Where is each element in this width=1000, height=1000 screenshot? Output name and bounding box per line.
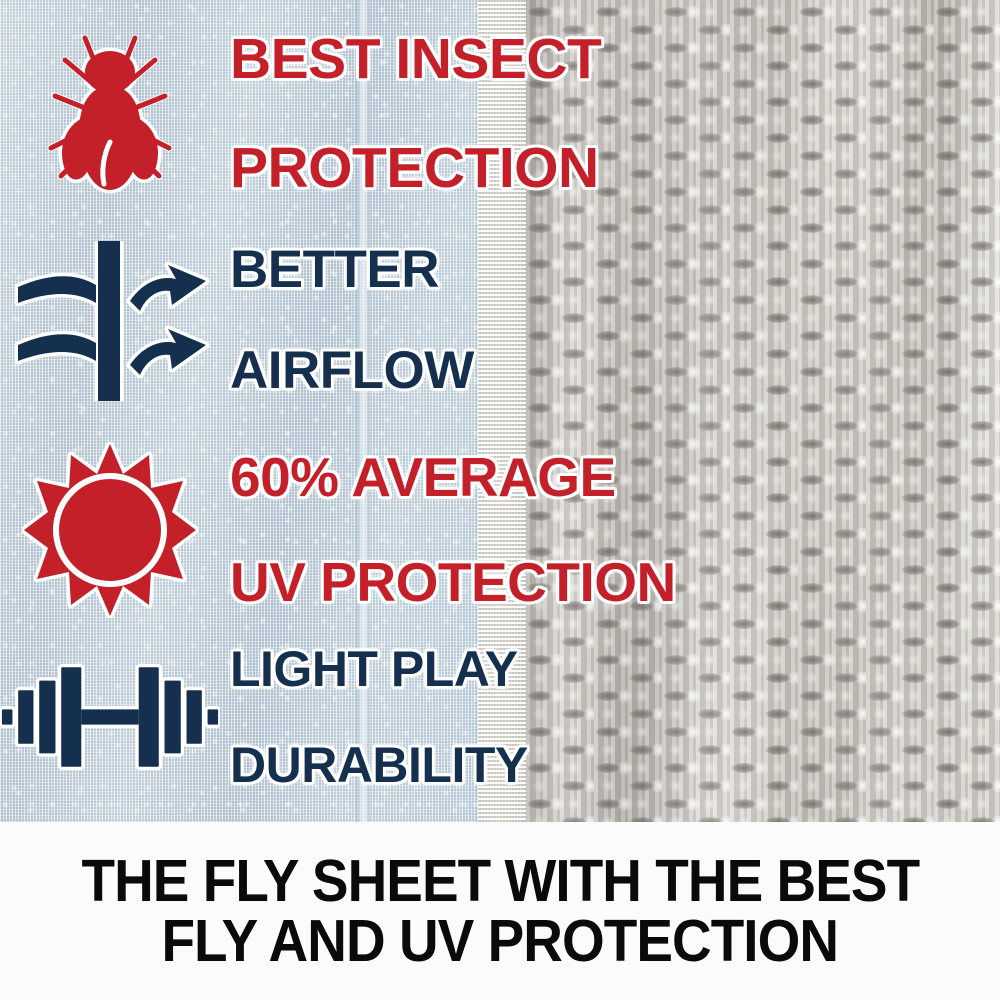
fly-icon — [35, 24, 185, 204]
sun-icon — [22, 442, 198, 618]
banner-headline-line-2: FLY AND UV PROTECTION — [162, 911, 839, 971]
bottom-banner: THE FLY SHEET WITH THE BEST FLY AND UV P… — [0, 822, 1000, 1000]
feature-icon-slot — [0, 241, 220, 401]
product-feature-infographic: BEST INSECT PROTECTION — [0, 0, 1000, 1000]
feature-icon-slot — [0, 661, 220, 773]
feature-icon-slot — [0, 24, 220, 204]
airflow-icon — [10, 241, 210, 401]
banner-headline-line-1: THE FLY SHEET WITH THE BEST — [81, 851, 919, 911]
feature-item-uv-protection: 60% AVERAGE UV PROTECTION — [0, 436, 1000, 624]
feature-list: BEST INSECT PROTECTION — [0, 0, 1000, 822]
feature-line: BETTER — [230, 245, 1000, 296]
feature-line: DURABILITY — [230, 741, 1000, 789]
feature-line: PROTECTION — [230, 141, 1000, 196]
feature-item-better-airflow: BETTER AIRFLOW — [0, 238, 1000, 404]
feature-line: BEST INSECT — [230, 32, 1000, 87]
feature-line: LIGHT PLAY — [230, 645, 1000, 693]
feature-item-durability: LIGHT PLAY DURABILITY — [0, 652, 1000, 782]
feature-icon-slot — [0, 442, 220, 618]
feature-line: AIRFLOW — [230, 346, 1000, 397]
dumbbell-icon — [0, 661, 220, 773]
feature-text-durability: LIGHT PLAY DURABILITY — [220, 597, 1000, 837]
feature-line: 60% AVERAGE — [230, 451, 1000, 504]
feature-item-insect-protection: BEST INSECT PROTECTION — [0, 18, 1000, 210]
